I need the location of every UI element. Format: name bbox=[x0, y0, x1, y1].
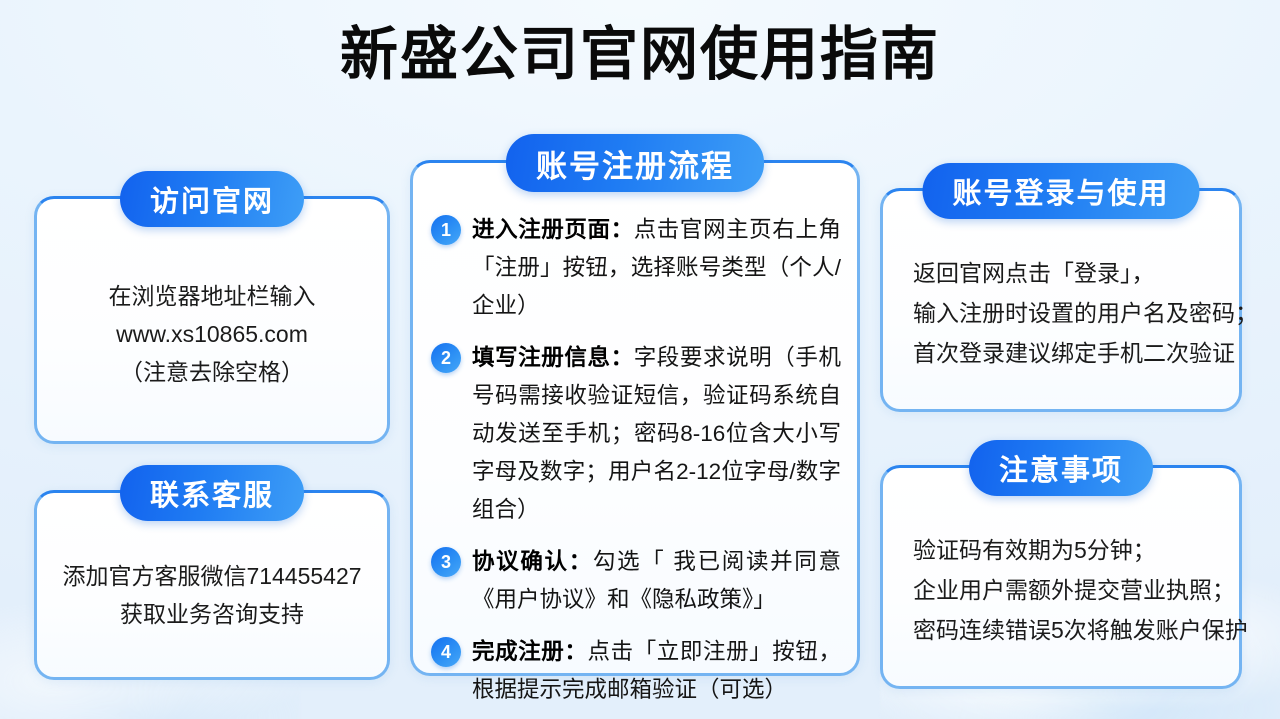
card-contact-support-header: 联系客服 bbox=[120, 465, 304, 521]
visit-website-line-2: www.xs10865.com bbox=[55, 315, 369, 353]
notice-line-2: 企业用户需额外提交营业执照； bbox=[913, 570, 1221, 610]
card-account-login: 账号登录与使用 返回官网点击「登录」， 输入注册时设置的用户名及密码； 首次登录… bbox=[880, 188, 1242, 412]
account-login-line-2: 输入注册时设置的用户名及密码； bbox=[913, 293, 1221, 333]
card-contact-support-body: 添加官方客服微信714455427 获取业务咨询支持 bbox=[37, 557, 387, 633]
step-title: 填写注册信息： bbox=[472, 345, 634, 370]
step-text: 完成注册：点击「立即注册」按钮，根据提示完成邮箱验证（可选） bbox=[472, 633, 841, 709]
notice-line-3: 密码连续错误5次将触发账户保护 bbox=[913, 610, 1221, 650]
card-contact-support: 联系客服 添加官方客服微信714455427 获取业务咨询支持 bbox=[34, 490, 390, 680]
card-visit-website: 访问官网 在浏览器地址栏输入 www.xs10865.com （注意去除空格） bbox=[34, 196, 390, 444]
visit-website-line-3: （注意去除空格） bbox=[55, 353, 369, 391]
visit-website-text: 在浏览器地址栏输入 www.xs10865.com （注意去除空格） bbox=[55, 277, 369, 391]
registration-step: 3 协议确认：勾选「 我已阅读并同意《用户协议》和《隐私政策》」 bbox=[431, 543, 841, 619]
step-detail: 字段要求说明（手机号码需接收验证短信，验证码系统自动发送至手机；密码8-16位含… bbox=[472, 345, 841, 522]
step-number-badge: 1 bbox=[431, 215, 461, 245]
step-text: 进入注册页面：点击官网主页右上角「注册」按钮，选择账号类型（个人/企业） bbox=[472, 211, 841, 325]
card-notice-body: 验证码有效期为5分钟； 企业用户需额外提交营业执照； 密码连续错误5次将触发账户… bbox=[883, 530, 1239, 650]
notice-line-1: 验证码有效期为5分钟； bbox=[913, 530, 1221, 570]
infographic-page: 新盛公司官网使用指南 访问官网 在浏览器地址栏输入 www.xs10865.co… bbox=[0, 0, 1280, 719]
contact-support-line-2: 获取业务咨询支持 bbox=[55, 595, 369, 633]
step-number-badge: 4 bbox=[431, 637, 461, 667]
step-title: 完成注册： bbox=[472, 639, 588, 664]
account-login-line-3: 首次登录建议绑定手机二次验证 bbox=[913, 333, 1221, 373]
card-registration-flow: 账号注册流程 1 进入注册页面：点击官网主页右上角「注册」按钮，选择账号类型（个… bbox=[410, 160, 860, 676]
step-number-badge: 3 bbox=[431, 547, 461, 577]
step-title: 进入注册页面： bbox=[472, 217, 634, 242]
contact-support-text: 添加官方客服微信714455427 获取业务咨询支持 bbox=[55, 557, 369, 633]
step-text: 填写注册信息：字段要求说明（手机号码需接收验证短信，验证码系统自动发送至手机；密… bbox=[472, 339, 841, 529]
account-login-text: 返回官网点击「登录」， 输入注册时设置的用户名及密码； 首次登录建议绑定手机二次… bbox=[901, 253, 1221, 373]
registration-step: 1 进入注册页面：点击官网主页右上角「注册」按钮，选择账号类型（个人/企业） bbox=[431, 211, 841, 325]
registration-step: 4 完成注册：点击「立即注册」按钮，根据提示完成邮箱验证（可选） bbox=[431, 633, 841, 709]
step-text: 协议确认：勾选「 我已阅读并同意《用户协议》和《隐私政策》」 bbox=[472, 543, 841, 619]
card-registration-flow-body: 1 进入注册页面：点击官网主页右上角「注册」按钮，选择账号类型（个人/企业） 2… bbox=[413, 211, 857, 709]
visit-website-line-1: 在浏览器地址栏输入 bbox=[55, 277, 369, 315]
registration-step-list: 1 进入注册页面：点击官网主页右上角「注册」按钮，选择账号类型（个人/企业） 2… bbox=[431, 211, 841, 709]
step-title: 协议确认： bbox=[472, 549, 593, 574]
card-registration-flow-header: 账号注册流程 bbox=[506, 134, 764, 192]
account-login-line-1: 返回官网点击「登录」， bbox=[913, 253, 1221, 293]
card-visit-website-header: 访问官网 bbox=[120, 171, 304, 227]
card-account-login-header: 账号登录与使用 bbox=[922, 163, 1199, 219]
contact-support-line-1: 添加官方客服微信714455427 bbox=[55, 557, 369, 595]
card-notice-header: 注意事项 bbox=[969, 440, 1153, 496]
step-number-badge: 2 bbox=[431, 343, 461, 373]
card-visit-website-body: 在浏览器地址栏输入 www.xs10865.com （注意去除空格） bbox=[37, 277, 387, 391]
page-title: 新盛公司官网使用指南 bbox=[0, 16, 1280, 94]
registration-step: 2 填写注册信息：字段要求说明（手机号码需接收验证短信，验证码系统自动发送至手机… bbox=[431, 339, 841, 529]
notice-text: 验证码有效期为5分钟； 企业用户需额外提交营业执照； 密码连续错误5次将触发账户… bbox=[901, 530, 1221, 650]
card-account-login-body: 返回官网点击「登录」， 输入注册时设置的用户名及密码； 首次登录建议绑定手机二次… bbox=[883, 253, 1239, 373]
card-notice: 注意事项 验证码有效期为5分钟； 企业用户需额外提交营业执照； 密码连续错误5次… bbox=[880, 465, 1242, 689]
